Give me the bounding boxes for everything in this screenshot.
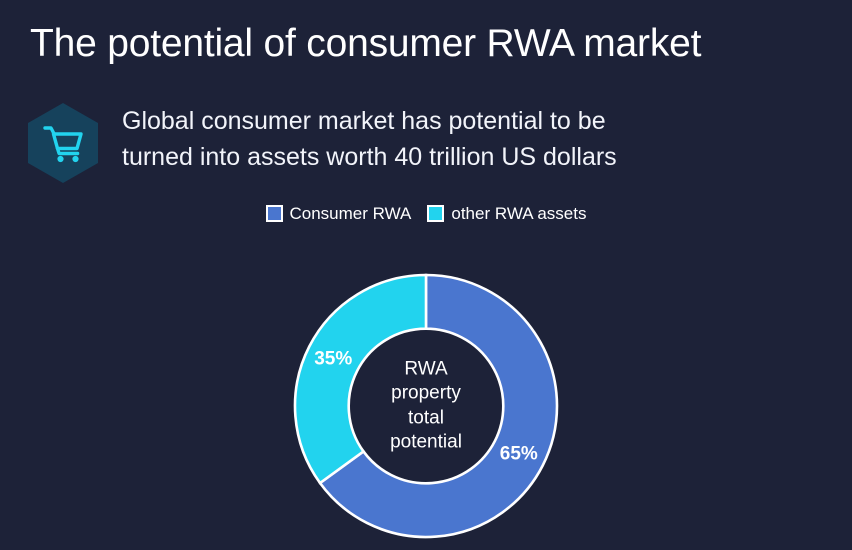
legend-swatch-other-rwa-assets (427, 205, 444, 222)
slide-root: The potential of consumer RWA market Glo… (0, 0, 852, 550)
legend-label-other-rwa-assets: other RWA assets (451, 205, 586, 222)
slice-value-label: 35% (314, 349, 352, 370)
legend-swatch-consumer-rwa (266, 205, 283, 222)
donut-svg: 65%35% (292, 272, 560, 540)
donut-chart: 65%35% RWA property total potential (292, 272, 560, 540)
subtitle-line-1: Global consumer market has potential to … (122, 104, 617, 140)
legend-item-consumer-rwa[interactable]: Consumer RWA (266, 205, 412, 222)
subtitle-block: Global consumer market has potential to … (26, 98, 617, 184)
chart-legend: Consumer RWA other RWA assets (0, 205, 852, 222)
legend-label-consumer-rwa: Consumer RWA (290, 205, 412, 222)
shopping-cart-icon (26, 102, 100, 184)
legend-item-other-rwa-assets[interactable]: other RWA assets (427, 205, 586, 222)
hexagon-badge-shape (26, 102, 100, 184)
slice-value-label: 65% (500, 443, 538, 464)
subtitle-text: Global consumer market has potential to … (122, 104, 617, 175)
subtitle-line-2: turned into assets worth 40 trillion US … (122, 140, 617, 176)
donut-slice-other-rwa-assets[interactable] (295, 275, 426, 483)
page-title: The potential of consumer RWA market (30, 22, 701, 67)
chart-area: 65%35% RWA property total potential (0, 250, 852, 550)
